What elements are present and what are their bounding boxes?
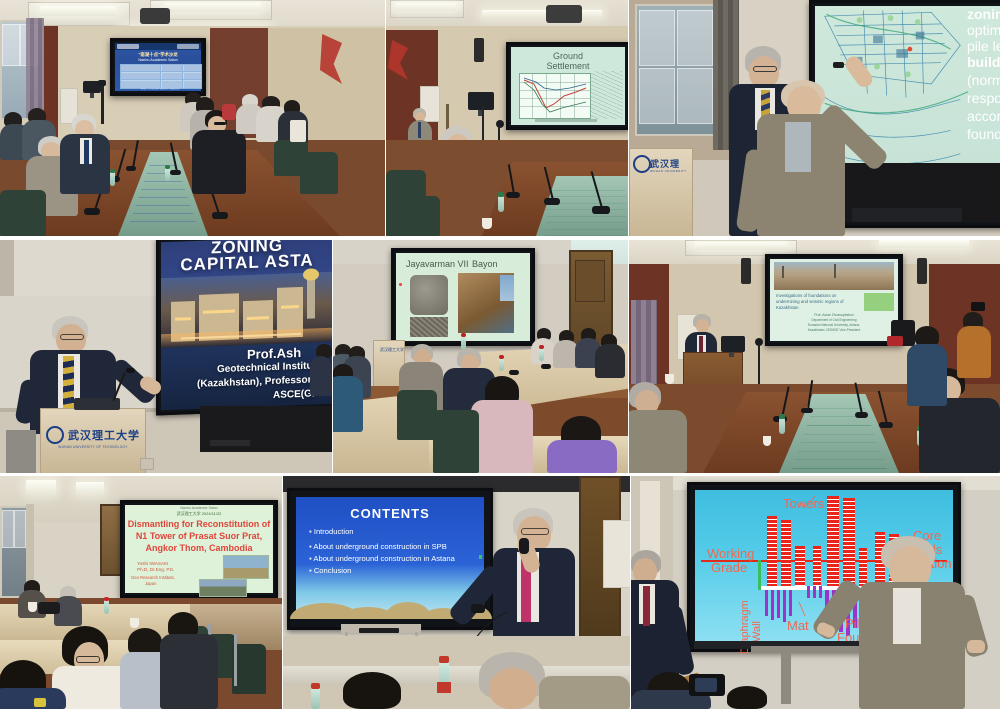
bullet-icon: ▪ <box>309 542 312 551</box>
slide-title-line1: Ground <box>511 51 625 61</box>
slide-label-left: Jayavarman VII <box>406 259 469 269</box>
slide-author-3: Geo Research Institute, <box>131 575 175 580</box>
podium: 武汉理工大学 WUHAN UNIVERSITY OF TECHNOLOGY <box>40 408 146 473</box>
panel-6-kazakhstan-lecture: Investigations of foundations on undermi… <box>629 240 1000 473</box>
slide-fragment-1: optimiz <box>967 22 1000 38</box>
slide-title: Investigations of foundations on undermi… <box>776 293 858 310</box>
slide-author: Prof. Askar Zhussupbekov <box>770 313 898 317</box>
photo-collage: "南湖十点"学术沙龙 Nanhu Academic Salon 地点：土木工程与… <box>0 0 1000 709</box>
slide-affil-3: Kazakhstan, ISSMGE Vice-President <box>770 328 898 332</box>
slide-title: CONTENTS <box>296 506 484 521</box>
podium: 武汉理 WUHAN UNIVERSITY <box>629 148 693 236</box>
slide-affil-1: Department of Civil Engineering <box>770 318 898 322</box>
slide-author-2: Ph.D, Dr.Eng, P.E. <box>137 567 174 572</box>
panel-8-contents-slide: CONTENTS ▪ Introduction ▪ About undergro… <box>283 476 630 709</box>
slide-title-line2: Settlement <box>511 61 625 71</box>
projection-screen: Ground Settlement <box>506 42 628 130</box>
slide-header-en: Nanhu Academic Salon <box>125 506 273 510</box>
slide-fragment-2: pile len <box>967 38 1000 54</box>
slide-fragment-0: zoning <box>967 6 1000 22</box>
panel-2-ground-settlement: Ground Settlement <box>386 0 628 236</box>
slide-fragment-4: (norma <box>967 72 1000 88</box>
slide-fragment-5: respon <box>967 90 1000 106</box>
contents-item-2: ▪ About underground construction in Asta… <box>309 554 455 563</box>
bullet-icon: ▪ <box>309 527 312 536</box>
podium-name-en: WUHAN UNIVERSITY OF TECHNOLOGY <box>58 445 127 449</box>
slide-title-line2: N1 Tower of Prasat Suor Prat, <box>125 531 273 541</box>
panel-9-foundation-diagram: Towers Core Walls ndation Working Grade … <box>631 476 1000 709</box>
slide-photo-2 <box>199 579 247 597</box>
slide-fragment-6: accord <box>967 108 1000 124</box>
contents-item-1: ▪ About underground construction in SPB <box>309 542 447 551</box>
slide-author-1: Yoshi IWASAKI <box>137 561 168 566</box>
slide-title-en: Nanhu Academic Salon <box>115 58 201 62</box>
projection-screen: Investigations of foundations on undermi… <box>765 254 903 346</box>
bullet-icon: ▪ <box>309 554 312 563</box>
slide-footer: 地点：土木工程与建筑学院会议室 <box>123 88 197 91</box>
slide-fragment-3: buildin <box>967 54 1000 70</box>
projection-screen: Jayavarman VII Bayon <box>391 248 535 346</box>
panel-1-conference-room: "南湖十点"学术沙龙 Nanhu Academic Salon 地点：土木工程与… <box>0 0 385 236</box>
slide-title-line3: Angkor Thom, Cambodia <box>125 543 273 553</box>
slide-author-4: Japan <box>145 581 156 586</box>
projection-screen: Nanhu Academic Salon 武汉理工大学 2024/11/22 D… <box>120 500 278 598</box>
panel-5-jayavarman-audience: Jayavarman VII Bayon 武汉理工大学 <box>333 240 628 473</box>
slide-photo-1 <box>223 555 269 579</box>
slide-label-right: Bayon <box>472 259 498 269</box>
contents-item-3: ▪ Conclusion <box>309 566 351 575</box>
slide-header-cn: 武汉理工大学 2024/11/22 <box>125 511 273 517</box>
jayavarman-statue-image <box>410 275 448 315</box>
projection-screen: ZONING CAPITAL ASTA <box>156 240 332 415</box>
podium-name-cn: 武汉理工大学 <box>68 427 140 443</box>
bullet-icon: ▪ <box>309 566 312 575</box>
panel-4-astana-podium: ZONING CAPITAL ASTA <box>0 240 332 473</box>
panel-7-angkor-audience: Nanhu Academic Salon 武汉理工大学 2024/11/22 D… <box>0 476 282 709</box>
contents-item-0: ▪ Introduction <box>309 527 354 536</box>
slide-affil-3: ASCE(GI <box>273 388 315 401</box>
projection-screen: "南湖十点"学术沙龙 Nanhu Academic Salon 地点：土木工程与… <box>110 38 206 96</box>
slide-fragment-7: founda <box>967 126 1000 142</box>
slide-affil-2: Eurasian National University, Astana, <box>770 323 898 327</box>
panel-3-professors-at-map: zoning optimiz pile len buildin (norma r… <box>629 0 1000 236</box>
slide-title-line1: Dismantling for Reconstitution of <box>125 519 273 529</box>
slide-author: Prof.Ash <box>247 345 301 362</box>
